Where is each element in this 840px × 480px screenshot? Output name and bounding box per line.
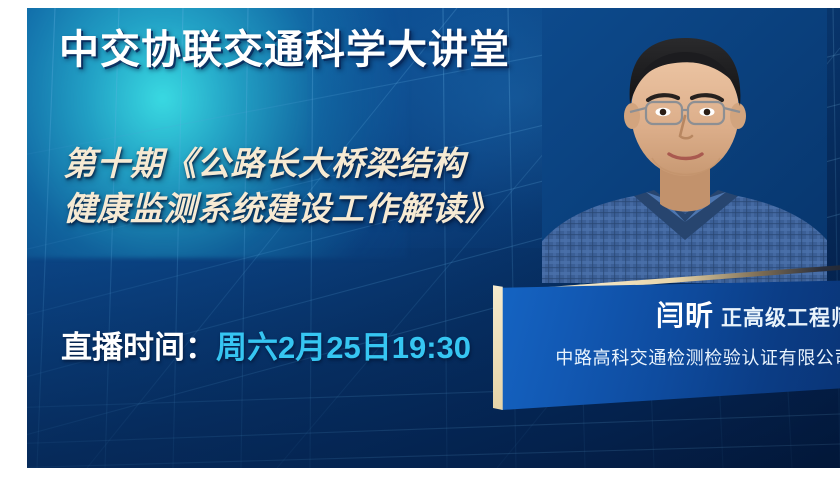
poster-title: 中交协联交通科学大讲堂 <box>59 30 510 70</box>
live-time-value: 周六2月25日19:30 <box>216 330 471 365</box>
speaker-info-panel: 闫昕正高级工程师 中路高科交通检测检验认证有限公司 <box>493 280 840 410</box>
poster-subtitle: 第十期《公路长大桥梁结构 健康监测系统建设工作解读》 <box>63 142 623 231</box>
subtitle-line-2: 健康监测系统建设工作解读》 <box>63 187 623 232</box>
speaker-title: 正高级工程师 <box>721 307 840 330</box>
speaker-organization: 中路高科交通检测检验认证有限公司 <box>493 344 840 370</box>
speaker-name-row: 闫昕正高级工程师 <box>493 302 840 330</box>
speaker-name: 闫昕 <box>656 300 714 331</box>
live-time-label: 直播时间： <box>61 330 216 365</box>
live-time-row: 直播时间：周六2月25日19:30 <box>61 332 471 363</box>
poster-canvas: 闫昕正高级工程师 中路高科交通检测检验认证有限公司 中交协联交通科学大讲堂 第十… <box>0 0 840 480</box>
webinar-poster: 闫昕正高级工程师 中路高科交通检测检验认证有限公司 中交协联交通科学大讲堂 第十… <box>27 8 840 468</box>
subtitle-line-1: 第十期《公路长大桥梁结构 <box>63 142 623 187</box>
